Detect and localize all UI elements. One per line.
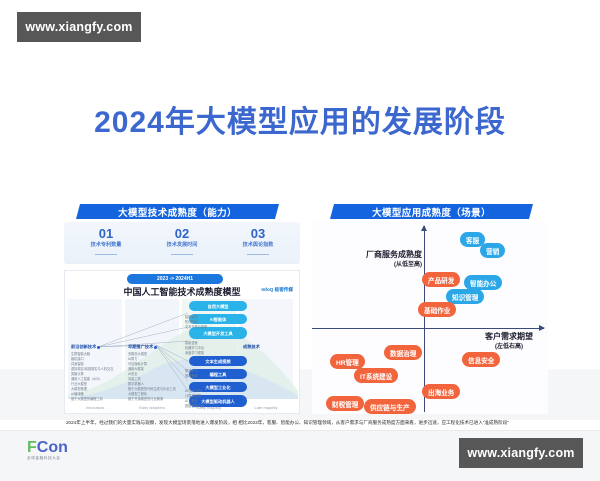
- metric-item-03: 03 技术舆论指数: [219, 226, 297, 255]
- y-axis-label-sub: (从低至高): [338, 260, 422, 270]
- page-title: 2024年大模型应用的发展阶段: [0, 97, 600, 141]
- x-axis-label: 客户需求期望 (左低右高): [470, 332, 548, 352]
- scenario-bubble-11: 财税管理: [326, 396, 364, 411]
- hype-curve-graphic: [68, 299, 298, 399]
- chart-list-early-2: 可信隐私计算: [128, 362, 147, 366]
- x-axis-label-sub: (左低右高): [470, 342, 548, 352]
- chart-list-early-9: 基于开源模型的行业微调: [128, 397, 163, 401]
- chart-list-early-8: 大模型工程化: [128, 392, 147, 396]
- metric-divider: [95, 254, 117, 255]
- metric-label: 技术舆论指数: [221, 241, 295, 249]
- scenario-bubble-2: 产品研发: [422, 272, 460, 287]
- chart-stage-label-3: Late majority: [239, 405, 293, 410]
- chart-list-early-4: AI安全: [128, 372, 137, 376]
- chart-list-mid-2: 文本分类与抽取: [185, 325, 207, 329]
- metric-number: 03: [219, 226, 297, 241]
- chart-stage-label-1: Early adopters: [125, 405, 179, 410]
- hub-dot-early: [154, 346, 157, 349]
- slide-caption: 2024年上半年，经过我们的大量实践与观察，发现大模型场景落地进入爆发阶段，相 …: [66, 419, 534, 426]
- chart-stage-label-0: Innovators: [68, 405, 122, 410]
- chart-list-innovators-9: 基于大模型的编程工具: [71, 397, 103, 401]
- chart-list-early-6: 数字机器人: [128, 382, 144, 386]
- chart-list-mid-10: AI工程化: [185, 399, 198, 403]
- metric-label: 技术专利数量: [69, 241, 143, 249]
- chart-stage-label-2: Early majority: [182, 405, 236, 410]
- fcon-logo-f: F: [27, 439, 37, 456]
- metric-divider: [171, 254, 193, 255]
- chart-list-innovators-6: 行业大模型: [71, 382, 87, 386]
- chart-list-early-1: AI算力: [128, 357, 137, 361]
- chart-list-early-3: 通用AI框架: [128, 367, 144, 371]
- metric-item-01: 01 技术专利数量: [67, 226, 145, 255]
- scenario-bubble-9: IT系统建设: [354, 368, 398, 383]
- chart-list-innovators-5: 通用人工智能（AGI）: [71, 377, 102, 381]
- chart-list-mid-8: AI芯片/GPU: [185, 389, 202, 393]
- chart-list-mid-9: 计算机视觉: [185, 394, 201, 398]
- scenario-bubble-12: 供应链与生产: [364, 399, 416, 414]
- chart-list-innovators-1: 脑机接口: [71, 357, 84, 361]
- chart-list-innovators-0: 生物智能大脑: [71, 352, 90, 356]
- hub-dot-frontier: [97, 346, 100, 349]
- watermark-top: www.xiangfy.com: [17, 12, 141, 42]
- scenario-bubble-5: 基础作业: [418, 302, 456, 317]
- scenario-bubble-1: 营销: [480, 243, 505, 258]
- chart-list-early-5: 向量工具: [128, 377, 141, 381]
- chart-list-early-0: 多模态大模型: [128, 352, 147, 356]
- embedded-maturity-chart: 2023 -> 2024H1 中国人工智能技术成熟度模型 InfoQ 极客传媒: [64, 270, 300, 414]
- scenario-quadrant-chart: 厂商服务成熟度 (从低至高) 客户需求期望 (左低右高) 客服营销产品研发智能办…: [312, 222, 548, 414]
- watermark-bottom: www.xiangfy.com: [459, 438, 583, 468]
- chart-list-mid-6: 联邦学习: [185, 369, 198, 373]
- fcon-logo: FCon 全球金融科技大会: [27, 439, 68, 461]
- hub-label-mature: 成熟技术: [243, 344, 260, 350]
- chart-list-innovators-7: 大模型推理: [71, 387, 87, 391]
- fcon-logo-text: FCon: [27, 439, 68, 456]
- chart-period-badge: 2023 -> 2024H1: [127, 274, 223, 284]
- metric-number: 02: [143, 226, 221, 241]
- chart-list-mid-1: 知识图谱: [185, 320, 198, 324]
- metric-divider: [247, 254, 269, 255]
- chart-node-0: 自然大模型: [189, 301, 247, 311]
- metric-card: 01 技术专利数量 02 技术发展时间 03 技术舆论指数: [64, 222, 300, 264]
- scenario-bubble-8: HR管理: [330, 354, 365, 369]
- y-axis-label-main: 厂商服务成熟度: [366, 250, 422, 259]
- chart-list-mid-7: 推荐系统: [185, 374, 198, 378]
- scenario-bubble-3: 智能办公: [464, 275, 502, 290]
- chart-list-early-7: 基于大模型的代码生成与补全工具: [128, 387, 176, 391]
- hub-label-frontier: 前沿创新技术: [71, 344, 96, 350]
- metric-item-02: 02 技术发展时间: [143, 226, 221, 255]
- scenario-bubble-7: 信息安全: [462, 352, 500, 367]
- fcon-logo-con: Con: [37, 439, 68, 456]
- metric-number: 01: [67, 226, 145, 241]
- slide-canvas: 2024年大模型应用的发展阶段 大模型技术成熟度（能力） 大模型应用成熟度（场景…: [0, 60, 600, 420]
- metric-label: 技术发展时间: [145, 241, 219, 249]
- y-axis-label: 厂商服务成熟度 (从低至高): [338, 250, 422, 270]
- hub-label-early: 早期推广技术: [128, 344, 153, 350]
- chart-node-3: 文本生成视频: [189, 356, 247, 366]
- chart-list-mid-3: 智能语音: [185, 341, 198, 345]
- fcon-logo-subtitle: 全球金融科技大会: [27, 456, 68, 461]
- x-axis-label-main: 客户需求期望: [485, 332, 533, 341]
- chart-list-mid-4: 机器学习平台: [185, 346, 204, 350]
- chart-list-mid-5: 深度学习框架: [185, 351, 204, 355]
- capability-panel: 01 技术专利数量 02 技术发展时间 03 技术舆论指数 2023 -> 20…: [64, 222, 300, 414]
- section-header-capability: 大模型技术成熟度（能力）: [76, 204, 279, 219]
- x-axis-line: [312, 328, 544, 329]
- chart-list-innovators-3: 虚拟现实/增强现实与人机交互: [71, 367, 113, 371]
- chart-list-innovators-4: 类脑计算: [71, 372, 84, 376]
- scenario-bubble-6: 数据治理: [384, 345, 422, 360]
- chart-list-mid-0: 智能客服: [185, 315, 198, 319]
- section-header-scenario: 大模型应用成熟度（场景）: [330, 204, 533, 219]
- chart-list-innovators-2: 具身智能: [71, 362, 84, 366]
- scenario-bubble-10: 出海业务: [422, 384, 460, 399]
- chart-list-innovators-8: AI编译器: [71, 392, 84, 396]
- chart-source-logo: InfoQ 极客传媒: [261, 287, 293, 293]
